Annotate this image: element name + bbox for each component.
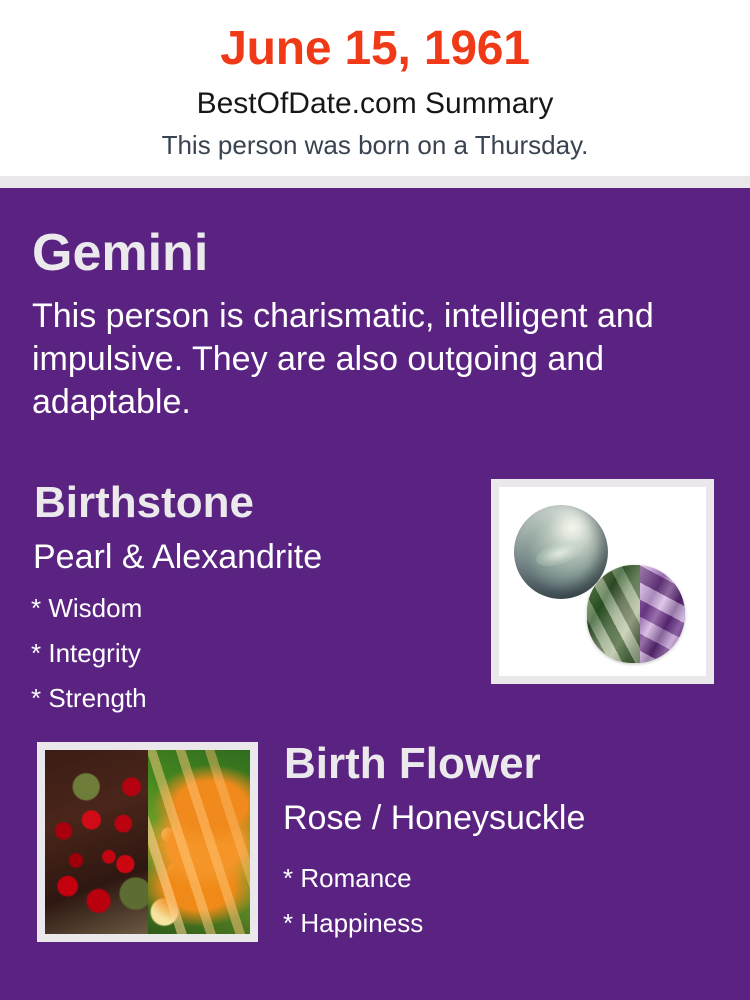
- birth-flower-heading: Birth Flower: [284, 738, 541, 790]
- flower-split-photo: [45, 750, 250, 934]
- card-header: June 15, 1961 BestOfDate.com Summary Thi…: [0, 0, 750, 176]
- page-title-date: June 15, 1961: [0, 21, 750, 77]
- rose-photo-half: [45, 750, 148, 934]
- birthstone-trait-list: * Wisdom * Integrity * Strength: [31, 586, 461, 721]
- birth-flower-trait-list: * Romance * Happiness: [283, 856, 713, 946]
- site-title: BestOfDate.com Summary: [0, 86, 750, 122]
- honeysuckle-photo-half: [148, 750, 251, 934]
- alexandrite-icon: [587, 565, 685, 663]
- zodiac-description: This person is charismatic, intelligent …: [32, 295, 700, 424]
- header-divider: [0, 176, 750, 188]
- alexandrite-faceted-half: [640, 565, 685, 663]
- birth-flower-image-inner: [45, 750, 250, 934]
- birthstone-image: [491, 479, 714, 684]
- list-item: * Integrity: [31, 631, 461, 676]
- list-item: * Wisdom: [31, 586, 461, 631]
- list-item: * Strength: [31, 676, 461, 721]
- birthstone-image-inner: [499, 487, 706, 676]
- alexandrite-rough-half: [587, 565, 640, 663]
- birth-day-subtitle: This person was born on a Thursday.: [0, 129, 750, 161]
- zodiac-sign-name: Gemini: [32, 222, 208, 284]
- birth-flower-image: [37, 742, 258, 942]
- list-item: * Happiness: [283, 901, 713, 946]
- birth-flower-value: Rose / Honeysuckle: [283, 797, 585, 839]
- birthstone-heading: Birthstone: [34, 477, 254, 529]
- summary-card: June 15, 1961 BestOfDate.com Summary Thi…: [0, 0, 750, 1000]
- birthstone-value: Pearl & Alexandrite: [33, 536, 322, 578]
- list-item: * Romance: [283, 856, 713, 901]
